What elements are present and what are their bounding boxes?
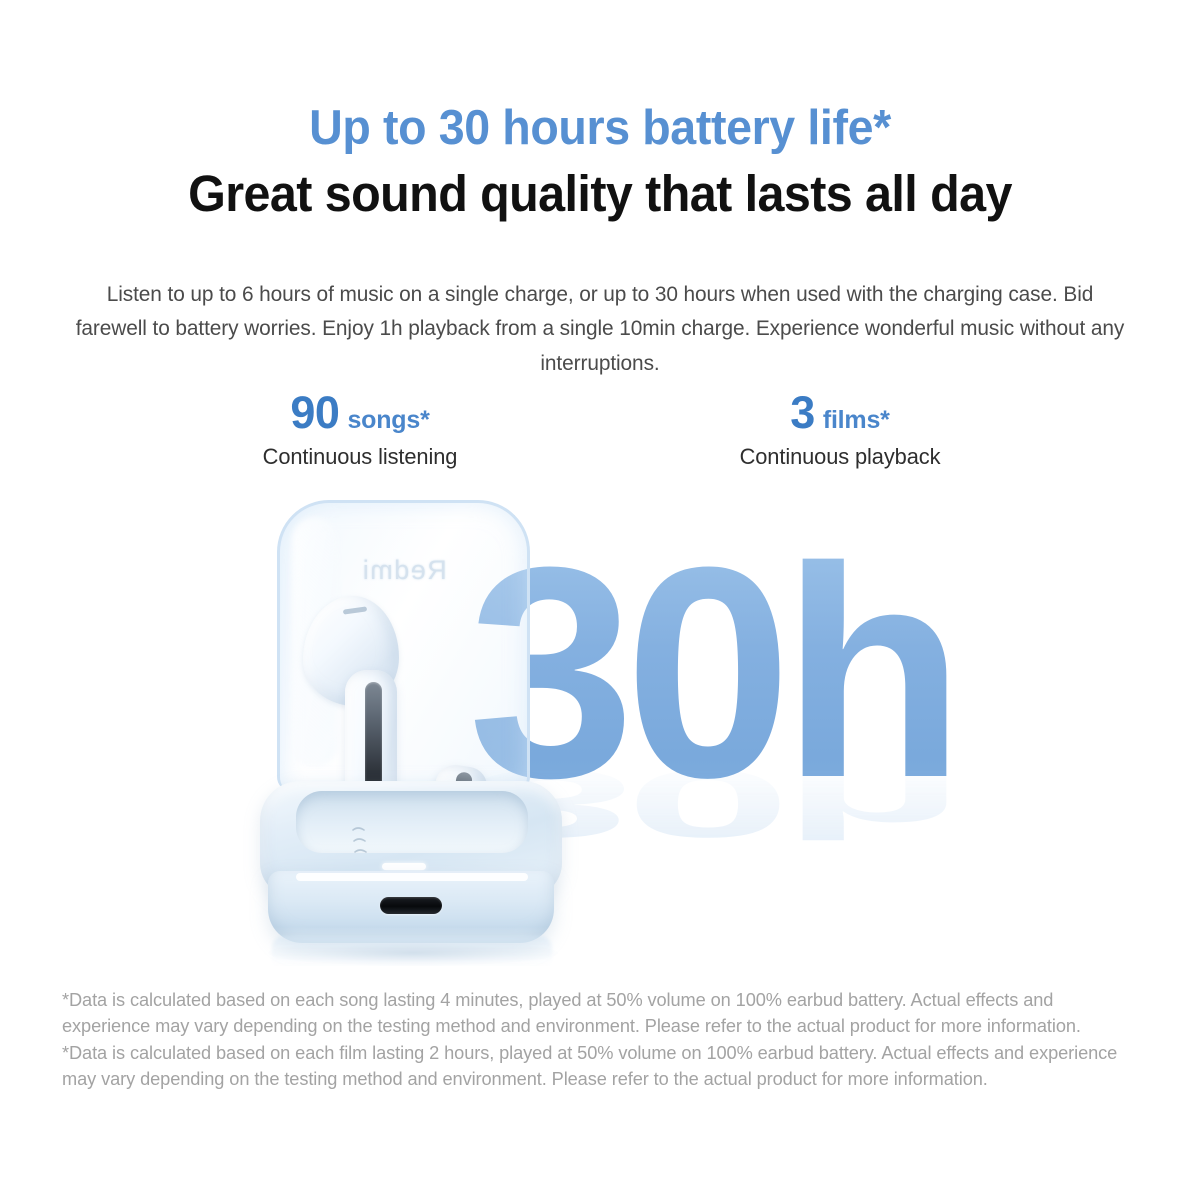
footnote-songs: *Data is calculated based on each song l… <box>62 987 1128 1040</box>
charging-contacts-icon <box>350 823 372 863</box>
headline-primary: Up to 30 hours battery life* <box>30 102 1170 155</box>
stat-films-caption: Continuous playback <box>636 444 1043 470</box>
charging-case-seam <box>296 873 528 881</box>
stat-songs-number: 90 <box>290 390 339 435</box>
stat-films-value-line: 3 films* <box>630 390 1050 435</box>
stat-films-unit: films* <box>823 408 890 433</box>
stat-songs: 90 songs* Continuous listening <box>150 390 570 470</box>
stat-films: 3 films* Continuous playback <box>630 390 1050 470</box>
charging-case-led-indicator <box>382 863 426 870</box>
product-feature-page: Up to 30 hours battery life* Great sound… <box>0 0 1200 1200</box>
charging-case-shadow <box>268 940 558 966</box>
stat-songs-unit: songs* <box>347 408 429 433</box>
headline-secondary: Great sound quality that lasts all day <box>30 166 1170 222</box>
charging-case-cradle <box>296 791 528 853</box>
usb-c-port-icon <box>380 897 442 914</box>
footnote-films: *Data is calculated based on each film l… <box>62 1040 1128 1093</box>
intro-paragraph: Listen to up to 6 hours of music on a si… <box>71 277 1128 381</box>
charging-case-lower-shell <box>268 871 554 943</box>
footnotes-block: *Data is calculated based on each song l… <box>62 987 1144 1092</box>
redmi-brand-logo: Redmi <box>361 555 447 586</box>
product-hero-image: 30h 30h Redmi <box>0 478 1200 966</box>
stats-row: 90 songs* Continuous listening 3 films* … <box>150 390 1050 470</box>
headline-block: Up to 30 hours battery life* Great sound… <box>0 102 1200 222</box>
stat-songs-caption: Continuous listening <box>156 444 563 470</box>
stat-films-number: 3 <box>790 390 815 435</box>
stat-songs-value-line: 90 songs* <box>150 390 570 435</box>
